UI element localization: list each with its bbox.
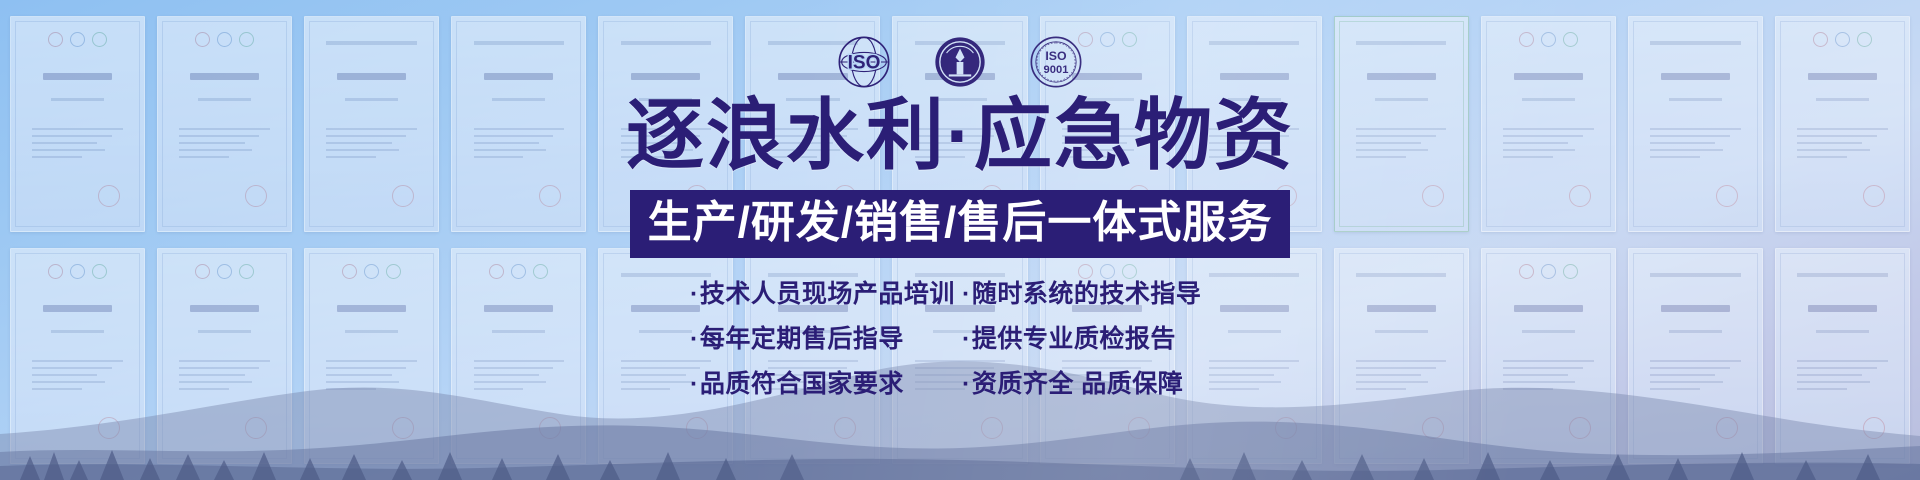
feature-label: 每年定期售后指导 [700, 325, 904, 353]
list-item: ·每年定期售后指导 [690, 325, 962, 354]
bullet-icon: · [962, 325, 971, 353]
list-item: ·资质齐全 品质保障 [962, 370, 1230, 399]
bullet-icon: · [962, 370, 971, 398]
subtitle-bar: 生产/研发/销售/售后一体式服务 [630, 190, 1291, 258]
feature-label: 资质齐全 品质保障 [972, 370, 1183, 398]
bullet-icon: · [962, 280, 971, 308]
bullet-icon: · [690, 325, 699, 353]
feature-label: 随时系统的技术指导 [972, 280, 1202, 308]
feature-label: 品质符合国家要求 [700, 370, 904, 398]
list-item: ·品质符合国家要求 [690, 370, 962, 399]
quality-inspection-badge-icon [932, 34, 988, 90]
iso-globe-badge-icon: ISO [836, 34, 892, 90]
page-title: 逐浪水利·应急物资 [0, 96, 1920, 174]
svg-text:ISO: ISO [1045, 49, 1067, 63]
promo-banner: ISO ISO 9001 逐浪水利·应急物资 生产/研发/销售/售后一体式服务 … [0, 0, 1920, 480]
list-item: ·随时系统的技术指导 [962, 280, 1230, 309]
bullet-icon: · [690, 370, 699, 398]
feature-label: 技术人员现场产品培训 [700, 280, 955, 308]
certification-badges-row: ISO ISO 9001 [0, 34, 1920, 90]
banner-content: 逐浪水利·应急物资 生产/研发/销售/售后一体式服务 ·技术人员现场产品培训 ·… [0, 96, 1920, 398]
list-item: ·技术人员现场产品培训 [690, 280, 962, 309]
bullet-icon: · [690, 280, 699, 308]
feature-list: ·技术人员现场产品培训 ·随时系统的技术指导 ·每年定期售后指导 ·提供专业质检… [690, 280, 1230, 398]
iso-9001-badge-icon: ISO 9001 [1028, 34, 1084, 90]
feature-label: 提供专业质检报告 [972, 325, 1176, 353]
subtitle-bar-wrapper: 生产/研发/销售/售后一体式服务 [0, 190, 1920, 258]
svg-text:9001: 9001 [1044, 64, 1069, 76]
list-item: ·提供专业质检报告 [962, 325, 1230, 354]
svg-text:ISO: ISO [848, 53, 881, 74]
